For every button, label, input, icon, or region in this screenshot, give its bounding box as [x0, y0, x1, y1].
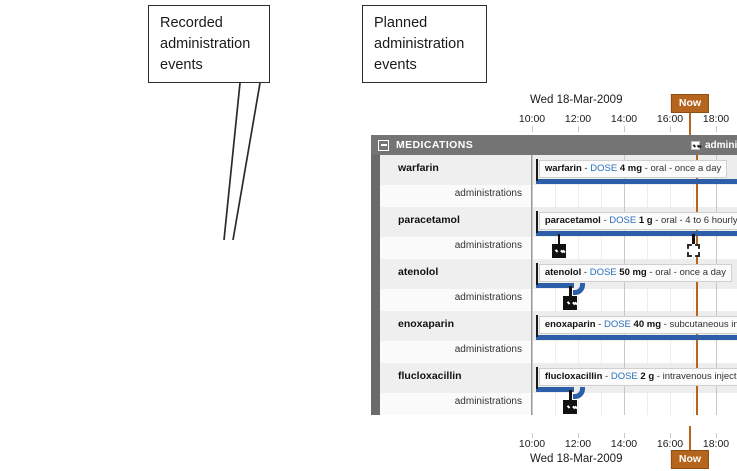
- administration-stem: [569, 390, 572, 400]
- drug-duration-bar[interactable]: [536, 387, 574, 392]
- drug-tag-name: atenolol: [545, 267, 581, 278]
- medications-panel: MEDICATIONS administrations pharmacy rev…: [371, 135, 737, 433]
- top-axis-tick: 14:00: [602, 113, 646, 125]
- bottom-axis-tick: 16:00: [648, 438, 692, 450]
- top-axis-tick: 18:00: [694, 113, 737, 125]
- now-line-bottom: [689, 426, 691, 450]
- drug-tag-name: paracetamol: [545, 215, 601, 226]
- drug-order-tag[interactable]: warfarin - DOSE 4 mg - oral - once a day: [539, 160, 727, 178]
- toggle-administrations[interactable]: administrations: [691, 140, 737, 151]
- checkbox-administrations-icon[interactable]: [691, 141, 700, 150]
- drug-duration-bar[interactable]: [536, 335, 737, 340]
- row-label-administrations: administrations: [455, 396, 522, 407]
- administration-stem: [692, 234, 695, 244]
- callout-line: administration: [374, 34, 477, 55]
- medications-header-bar: MEDICATIONS administrations pharmacy rev…: [371, 135, 737, 155]
- row-label-column: warfarinadministrationsparacetamoladmini…: [380, 155, 532, 415]
- drug-tag-dose-value: 50 mg: [619, 267, 646, 278]
- recorded-administration-icon[interactable]: [563, 400, 577, 414]
- planned-administration-icon[interactable]: [687, 244, 700, 257]
- bottom-axis-tick: 12:00: [556, 438, 600, 450]
- drug-tag-dose-label: DOSE: [611, 371, 638, 382]
- drug-tag-dose-value: 2 g: [640, 371, 654, 382]
- top-axis-date: Wed 18-Mar-2009: [530, 94, 622, 106]
- panel-gutter: [371, 155, 380, 415]
- top-axis-tick: 16:00: [648, 113, 692, 125]
- drug-tag-dose-value: 4 mg: [620, 163, 642, 174]
- bottom-axis-tick: 18:00: [694, 438, 737, 450]
- top-axis-tick-mark: [716, 126, 717, 132]
- bottom-axis-tick-mark: [532, 433, 533, 438]
- row-label-drug[interactable]: enoxaparin: [398, 318, 454, 330]
- drug-duration-bar[interactable]: [536, 231, 737, 236]
- drug-order-tag[interactable]: flucloxacillin - DOSE 2 g - intravenous …: [539, 368, 737, 386]
- recorded-administration-icon[interactable]: [552, 244, 566, 258]
- drug-duration-bar[interactable]: [536, 283, 574, 288]
- drug-duration-bar[interactable]: [536, 179, 737, 184]
- top-axis-tick-mark: [624, 126, 625, 132]
- bottom-axis-tick: 10:00: [510, 438, 554, 450]
- timeline-plot-area[interactable]: warfarin - DOSE 4 mg - oral - once a day…: [532, 155, 737, 415]
- bottom-axis-tick-mark: [578, 433, 579, 438]
- row-label-administrations: administrations: [455, 188, 522, 199]
- row-label-administrations: administrations: [455, 240, 522, 251]
- row-label-administrations: administrations: [455, 344, 522, 355]
- top-axis-tick-mark: [578, 126, 579, 132]
- row-label-drug[interactable]: warfarin: [398, 162, 439, 174]
- drug-tag-route: - oral - once a day: [647, 267, 726, 278]
- drug-tag-name: enoxaparin: [545, 319, 596, 330]
- callout-line: events: [160, 55, 260, 76]
- now-badge-bottom: Now: [671, 450, 709, 469]
- row-band-administrations: [532, 341, 737, 363]
- row-label-administrations: administrations: [455, 292, 522, 303]
- drug-tag-name: warfarin: [545, 163, 582, 174]
- administration-stem: [558, 234, 561, 244]
- row-label-drug[interactable]: atenolol: [398, 266, 438, 278]
- bottom-axis-tick-mark: [624, 433, 625, 438]
- row-label-drug[interactable]: flucloxacillin: [398, 370, 462, 382]
- drug-tag-route: - oral - 4 to 6 hourly: [653, 215, 737, 226]
- bottom-axis-date: Wed 18-Mar-2009: [530, 453, 622, 465]
- page-title: MEDICATIONS: [396, 139, 473, 151]
- toggle-administrations-label: administrations: [705, 140, 737, 151]
- administration-stem: [569, 286, 572, 296]
- callout-line: administration: [160, 34, 260, 55]
- callout-line: events: [374, 55, 477, 76]
- bottom-axis-tick-mark: [716, 433, 717, 438]
- callout-recorded-events: Recorded administration events: [148, 5, 270, 83]
- drug-order-tag[interactable]: paracetamol - DOSE 1 g - oral - 4 to 6 h…: [539, 212, 737, 230]
- top-axis-tick: 12:00: [556, 113, 600, 125]
- now-line-top: [689, 110, 691, 136]
- drug-order-tag[interactable]: enoxaparin - DOSE 40 mg - subcutaneous i…: [539, 316, 737, 334]
- row-band-administrations: [532, 185, 737, 207]
- top-axis-tick: 10:00: [510, 113, 554, 125]
- now-badge-top: Now: [671, 94, 709, 113]
- collapse-minus-icon[interactable]: [378, 140, 389, 151]
- bottom-axis-tick-mark: [670, 433, 671, 438]
- drug-tag-dose-value: 1 g: [639, 215, 653, 226]
- top-axis-tick-mark: [670, 126, 671, 132]
- row-label-drug[interactable]: paracetamol: [398, 214, 460, 226]
- top-axis-tick-mark: [532, 126, 533, 132]
- drug-tag-dose-label: DOSE: [609, 215, 636, 226]
- drug-tag-dose-label: DOSE: [590, 267, 617, 278]
- bottom-axis-tick: 14:00: [602, 438, 646, 450]
- callout-line: Recorded: [160, 13, 260, 34]
- drug-order-tag[interactable]: atenolol - DOSE 50 mg - oral - once a da…: [539, 264, 732, 282]
- drug-tag-route: - intravenous injection - 8 hourly: [654, 371, 737, 382]
- drug-tag-route: - subcutaneous injection - once a day: [661, 319, 737, 330]
- drug-tag-name: flucloxacillin: [545, 371, 603, 382]
- recorded-administration-icon[interactable]: [563, 296, 577, 310]
- drug-tag-route: - oral - once a day: [642, 163, 721, 174]
- drug-tag-dose-value: 40 mg: [634, 319, 661, 330]
- callout-line: Planned: [374, 13, 477, 34]
- drug-tag-dose-label: DOSE: [604, 319, 631, 330]
- gridline: [532, 155, 533, 415]
- drug-tag-dose-label: DOSE: [590, 163, 617, 174]
- callout-planned-events: Planned administration events Wed 18-Mar…: [362, 5, 487, 83]
